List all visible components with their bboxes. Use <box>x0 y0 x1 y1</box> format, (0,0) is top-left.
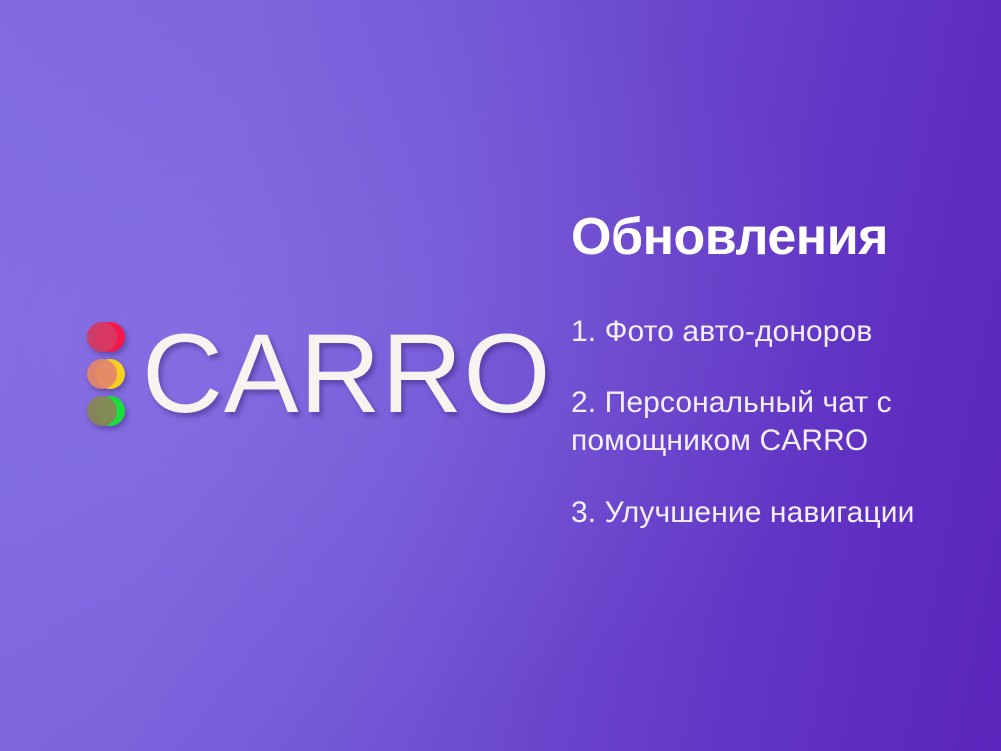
green-dot-front-circle <box>87 396 117 426</box>
update-item-3-line-1: 3. Улучшение навигации <box>571 494 991 532</box>
carro-wordmark: CARRO <box>142 318 551 430</box>
logo-dots-group <box>86 320 128 428</box>
update-item-2-line-1: 2. Персональный чат с <box>571 384 991 422</box>
update-item-3: 3. Улучшение навигации <box>571 494 991 532</box>
update-item-2-line-2: помощником CARRO <box>571 422 991 460</box>
presentation-slide: CARRO Обновления 1. Фото авто-доноров 2.… <box>0 0 1001 751</box>
update-item-2: 2. Персональный чат с помощником CARRO <box>571 384 991 460</box>
logo-red-dot <box>86 320 128 354</box>
red-dot-front-circle <box>87 322 117 352</box>
update-item-1-line-1: 1. Фото авто-доноров <box>571 313 991 351</box>
slide-heading: Обновления <box>571 210 991 265</box>
yellow-dot-front-circle <box>87 359 117 389</box>
slide-content: Обновления 1. Фото авто-доноров 2. Персо… <box>571 210 991 532</box>
logo-green-dot <box>86 394 128 428</box>
carro-logo: CARRO <box>86 318 551 430</box>
update-item-1: 1. Фото авто-доноров <box>571 313 991 351</box>
logo-yellow-dot <box>86 357 128 391</box>
